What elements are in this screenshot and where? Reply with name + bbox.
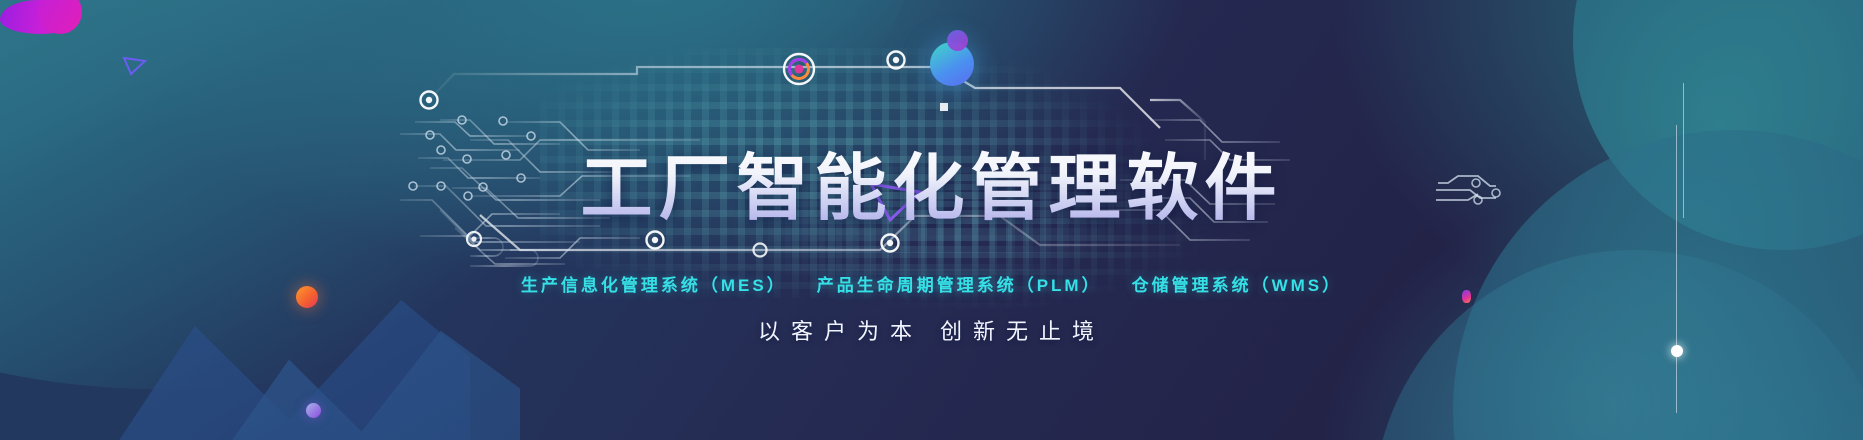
purple-dot-icon — [306, 403, 321, 418]
hero-banner: 工厂智能化管理软件 生产信息化管理系统（MES） 产品生命周期管理系统（PLM）… — [0, 0, 1863, 440]
white-end-dot-icon — [1671, 345, 1683, 357]
magenta-blob-icon — [0, 0, 76, 34]
system-item-plm: 产品生命周期管理系统（PLM） — [817, 271, 1102, 296]
system-item-mes: 生产信息化管理系统（MES） — [521, 271, 787, 296]
triangle-outline-icon — [122, 55, 148, 77]
system-list: 生产信息化管理系统（MES） 产品生命周期管理系统（PLM） 仓储管理系统（WM… — [0, 271, 1863, 296]
page-title: 工厂智能化管理软件 — [0, 129, 1863, 234]
system-item-wms: 仓储管理系统（WMS） — [1132, 271, 1343, 296]
tagline: 以客户为本 创新无止境 — [0, 314, 1863, 346]
gradient-sphere-small-icon — [947, 30, 968, 51]
